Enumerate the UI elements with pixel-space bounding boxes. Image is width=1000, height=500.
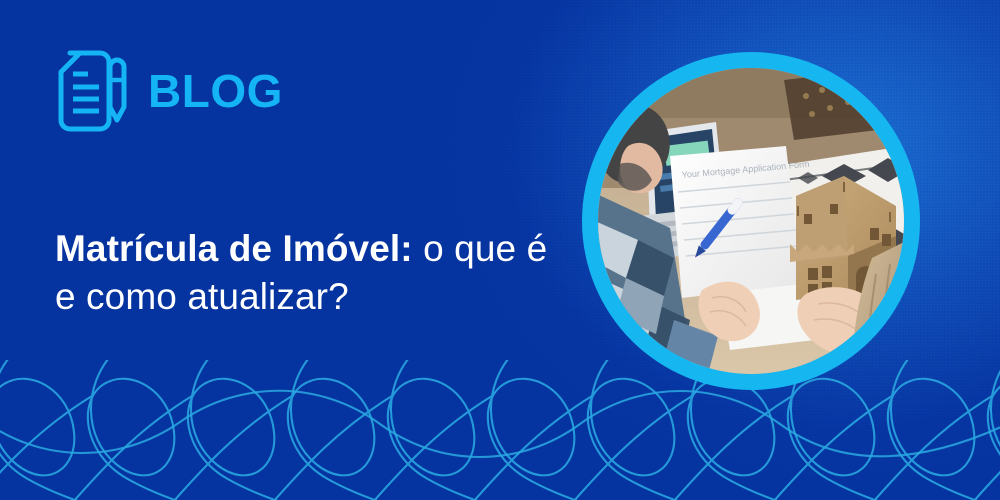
page-title: Matrícula de Imóvel: o que é e como atua… — [55, 225, 575, 321]
hero-photo: Your Mortgage Application Form — [598, 68, 904, 374]
blog-logo[interactable]: BLOG — [52, 50, 283, 132]
looping-line-pattern — [0, 360, 1000, 500]
blog-logo-text: BLOG — [148, 68, 283, 114]
document-with-pencil-icon — [52, 50, 130, 132]
page-title-bold: Matrícula de Imóvel: — [55, 228, 413, 269]
blog-banner: BLOG Matrícula de Imóvel: o que é e como… — [0, 0, 1000, 500]
hero-photo-ring: Your Mortgage Application Form — [582, 52, 920, 390]
